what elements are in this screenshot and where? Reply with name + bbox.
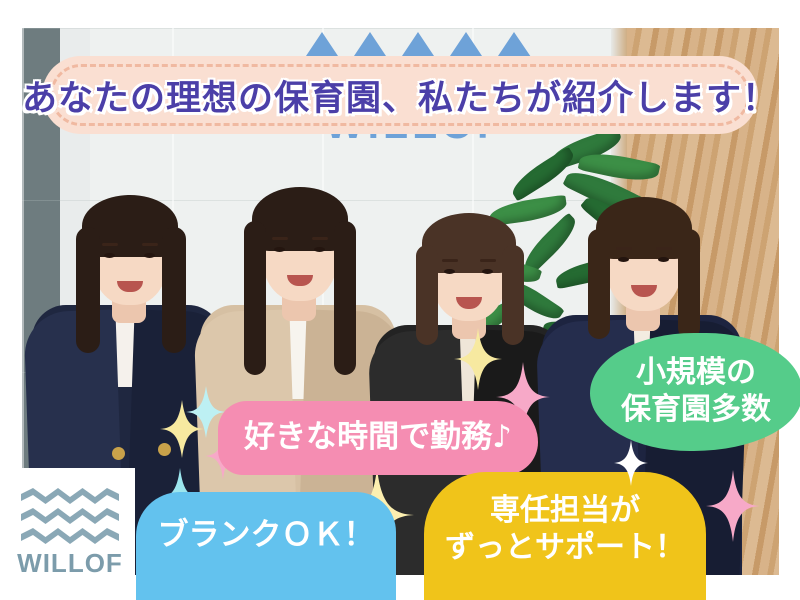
bubble-blue[interactable]: ブランクＯＫ！ [136, 492, 396, 600]
bubble-blue-text: ブランクＯＫ！ [158, 517, 375, 555]
bubble-green-text: 小規模の 保育園多数 [621, 355, 771, 428]
zigzag-chevron-icon [21, 488, 119, 544]
bubble-pink[interactable]: 好きな時間で勤務♪ [218, 401, 538, 475]
bubble-yellow-text: 専任担当が ずっとサポート！ [445, 493, 685, 566]
corner-logo-wordmark: WILLOF [17, 550, 123, 576]
bubble-yellow[interactable]: 専任担当が ずっとサポート！ [424, 472, 706, 600]
sparkle-yellow-small-left-icon [160, 400, 204, 458]
bubble-pink-text: 好きな時間で勤務♪ [244, 419, 512, 457]
sparkle-pink-right-icon [706, 470, 760, 542]
poster-root: WILLOF [0, 0, 800, 600]
sparkle-yellow-center-icon [454, 328, 502, 390]
headline-text: あなたの理想の保育園、私たちが紹介します！ [22, 70, 778, 121]
willof-corner-logo[interactable]: WILLOF [5, 468, 135, 595]
headline-banner: あなたの理想の保育園、私たちが紹介します！ [42, 56, 758, 134]
bubble-green[interactable]: 小規模の 保育園多数 [590, 333, 800, 451]
sparkle-white-in-yellow-icon [614, 440, 648, 486]
